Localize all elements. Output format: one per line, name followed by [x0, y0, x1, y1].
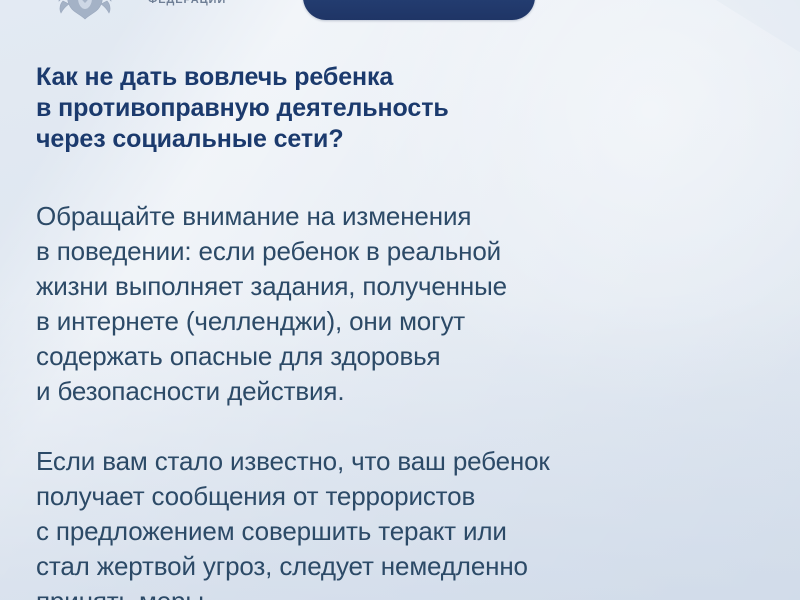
paragraph-line: содержать опасные для здоровья — [36, 339, 656, 374]
poster-content: Как не дать вовлечь ребенка в противопра… — [36, 62, 656, 600]
paragraph-line: с предложением совершить теракт или — [36, 514, 656, 549]
paragraph-line: Если вам стало известно, что ваш ребенок — [36, 444, 656, 479]
ministry-label: ФЕДЕРАЦИИ — [148, 0, 226, 6]
paragraph-line: в интернете (челленджи), они могут — [36, 304, 656, 339]
headline-line: Как не дать вовлечь ребенка — [36, 62, 656, 93]
paragraph-line: стал жертвой угроз, следует немедленно — [36, 549, 656, 584]
header-badge[interactable] — [303, 0, 535, 20]
paragraph-line: и безопасности действия. — [36, 374, 656, 409]
paragraph-line: принять меры. — [36, 584, 656, 600]
headline-line: в противоправную деятельность — [36, 93, 656, 124]
body-text: Обращайте внимание на изменения в поведе… — [36, 199, 656, 600]
paragraph-threat-response: Если вам стало известно, что ваш ребенок… — [36, 444, 656, 600]
header-strip: ФЕДЕРАЦИИ — [0, 0, 800, 28]
paragraph-line: в поведении: если ребенок в реальной — [36, 234, 656, 269]
page-title: Как не дать вовлечь ребенка в противопра… — [36, 62, 656, 155]
paragraph-line: жизни выполняет задания, полученные — [36, 269, 656, 304]
russian-coat-of-arms-icon — [54, 0, 116, 22]
paragraph-line: получает сообщения от террористов — [36, 479, 656, 514]
headline-line: через социальные сети? — [36, 124, 656, 155]
paragraph-behaviour-warning: Обращайте внимание на изменения в поведе… — [36, 199, 656, 409]
poster-canvas: ФЕДЕРАЦИИ Как не дать вовлечь ребенка в … — [0, 0, 800, 600]
paragraph-line: Обращайте внимание на изменения — [36, 199, 656, 234]
